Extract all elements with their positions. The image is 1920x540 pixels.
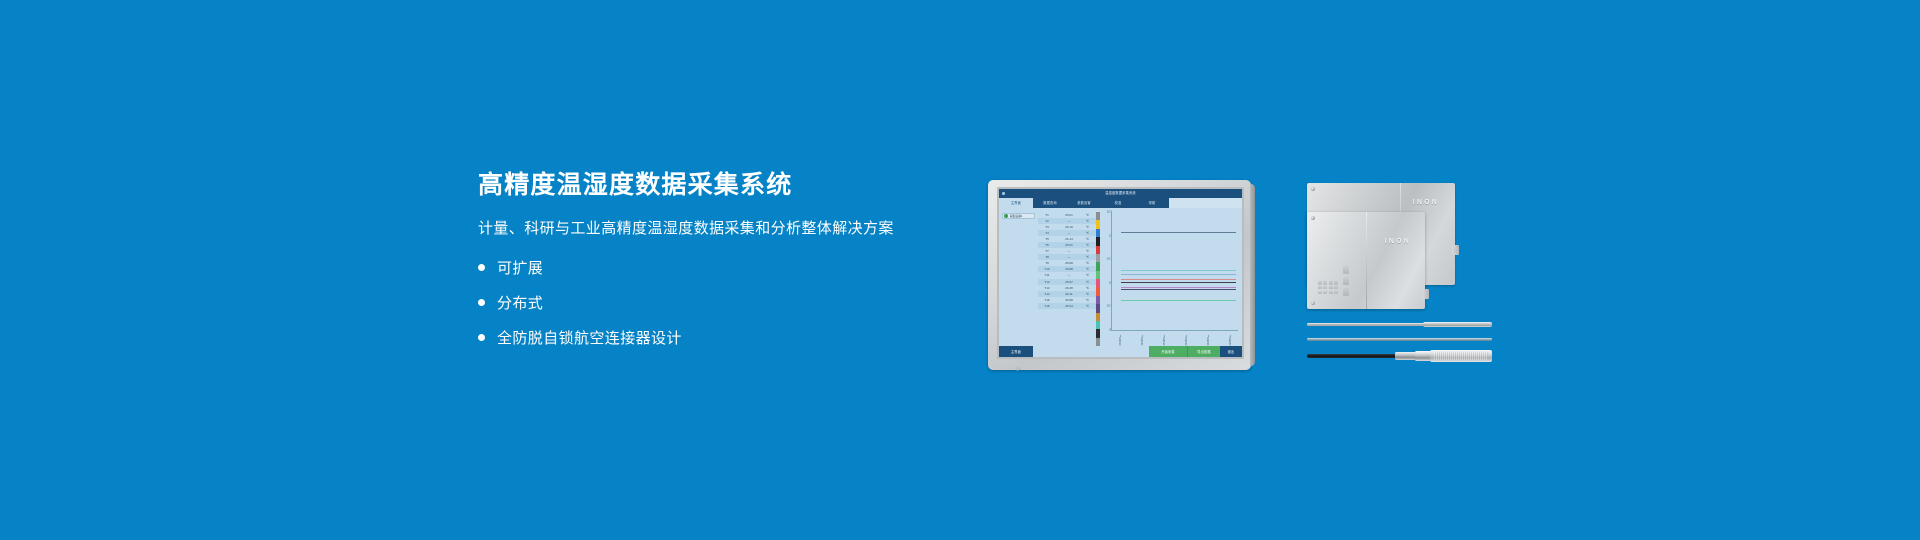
list-item: 分布式 bbox=[478, 292, 998, 313]
aviation-connector-probe bbox=[1307, 350, 1492, 362]
channel-value: --- bbox=[1056, 273, 1082, 277]
chart-series-line bbox=[1121, 287, 1236, 288]
app-footer: 主界面 开始采集 导出数据 退出 bbox=[999, 346, 1242, 357]
channel-unit: ℃ bbox=[1082, 231, 1093, 235]
probe-lock-nut bbox=[1415, 351, 1431, 361]
connector-row-icon bbox=[1343, 266, 1349, 296]
channel-value: 26.28 bbox=[1056, 286, 1082, 290]
tab-main[interactable]: 主界面 bbox=[999, 198, 1033, 208]
bullet-dot-icon bbox=[478, 264, 485, 271]
channel-id: T5 bbox=[1038, 237, 1056, 241]
x-axis-tick: 14:21:40 bbox=[1184, 337, 1187, 345]
bullet-dot-icon bbox=[478, 299, 485, 306]
tabbar-filler bbox=[1169, 198, 1242, 208]
chart-series-line bbox=[1121, 232, 1236, 233]
app-title: 温湿度数据采集系统 bbox=[999, 189, 1242, 198]
module-seam bbox=[1366, 212, 1367, 309]
channel-id: T6 bbox=[1038, 243, 1056, 247]
chart-x-axis: 14:20:1014:20:4014:21:1014:21:4014:22:10… bbox=[1113, 330, 1238, 345]
tab-query[interactable]: 数据查询 bbox=[1033, 198, 1067, 208]
channel-id: T14 bbox=[1038, 292, 1056, 296]
app-tabbar: 主界面 数据查询 参数设置 校准 帮助 bbox=[999, 198, 1242, 208]
device-tree-panel: 采集设备1 bbox=[999, 208, 1038, 346]
feature-label: 分布式 bbox=[497, 292, 543, 313]
screw-icon bbox=[1311, 301, 1315, 305]
promo-banner: 高精度温湿度数据采集系统 计量、科研与工业高精度温湿度数据采集和分析整体解决方案… bbox=[0, 0, 1920, 540]
page-subtitle: 计量、科研与工业高精度温湿度数据采集和分析整体解决方案 bbox=[478, 217, 998, 238]
channel-value: 26.13 bbox=[1056, 237, 1082, 241]
channel-unit: ℃ bbox=[1082, 255, 1093, 259]
module-port bbox=[1452, 245, 1459, 255]
feature-label: 可扩展 bbox=[497, 257, 543, 278]
channel-unit: ℃ bbox=[1082, 286, 1093, 290]
channel-unit: ℃ bbox=[1082, 261, 1093, 265]
device-online-icon bbox=[1004, 214, 1008, 218]
channel-value: 26.19 bbox=[1056, 225, 1082, 229]
copy-block: 高精度温湿度数据采集系统 计量、科研与工业高精度温湿度数据采集和分析整体解决方案… bbox=[478, 172, 998, 348]
channel-id: T16 bbox=[1038, 304, 1056, 308]
channel-id: T13 bbox=[1038, 286, 1056, 290]
channel-id: T4 bbox=[1038, 231, 1056, 235]
chart-series-line bbox=[1121, 274, 1236, 275]
page-title: 高精度温湿度数据采集系统 bbox=[478, 172, 998, 200]
channel-id: T1 bbox=[1038, 213, 1056, 217]
channel-unit: ℃ bbox=[1082, 219, 1093, 223]
tab-settings[interactable]: 参数设置 bbox=[1067, 198, 1101, 208]
channel-id: T15 bbox=[1038, 298, 1056, 302]
stainless-temperature-probe bbox=[1307, 322, 1492, 327]
chart-series-line bbox=[1121, 289, 1236, 290]
channel-id: T3 bbox=[1038, 225, 1056, 229]
trend-chart: 25.52526.52625.525 14:20:1014:20:4014:21… bbox=[1100, 208, 1242, 346]
module-port bbox=[1422, 289, 1429, 299]
channel-unit: ℃ bbox=[1082, 249, 1093, 253]
chart-series-line bbox=[1121, 279, 1236, 280]
probe-cable bbox=[1307, 354, 1399, 358]
probe-connector-body bbox=[1430, 350, 1492, 362]
tab-help[interactable]: 帮助 bbox=[1135, 198, 1169, 208]
channel-id: T11 bbox=[1038, 273, 1056, 277]
channel-unit: ℃ bbox=[1082, 298, 1093, 302]
list-item: 全防脱自锁航空连接器设计 bbox=[478, 327, 998, 348]
start-acquisition-button[interactable]: 开始采集 bbox=[1149, 346, 1187, 357]
channel-value: 25.94 bbox=[1056, 304, 1082, 308]
monitor-stand bbox=[1014, 364, 1023, 371]
footer-spacer bbox=[1033, 346, 1149, 357]
brand-logo: INON bbox=[1413, 199, 1439, 206]
channel-unit: ℃ bbox=[1082, 273, 1093, 277]
channel-unit: ℃ bbox=[1082, 267, 1093, 271]
channel-value: 26.98 bbox=[1056, 261, 1082, 265]
channel-unit: ℃ bbox=[1082, 237, 1093, 241]
chart-series-line bbox=[1121, 300, 1236, 301]
app-body: 采集设备1 T125.01℃T2---℃T326.19℃T4---℃T526.1… bbox=[999, 208, 1242, 346]
list-item: 可扩展 bbox=[478, 257, 998, 278]
tab-calibration[interactable]: 校准 bbox=[1101, 198, 1135, 208]
x-axis-tick: 14:22:10 bbox=[1206, 337, 1209, 345]
channel-unit: ℃ bbox=[1082, 304, 1093, 308]
slim-sensor-rod bbox=[1307, 338, 1492, 341]
x-axis-tick: 14:21:10 bbox=[1162, 337, 1165, 345]
exit-button[interactable]: 退出 bbox=[1220, 346, 1242, 357]
device-tree-label: 采集设备1 bbox=[1010, 214, 1023, 218]
channel-value: --- bbox=[1056, 231, 1082, 235]
probe-tip bbox=[1423, 322, 1492, 327]
data-logger-module-front: INON bbox=[1307, 212, 1425, 309]
channel-id: T9 bbox=[1038, 261, 1056, 265]
channel-id: T12 bbox=[1038, 280, 1056, 284]
feature-list: 可扩展 分布式 全防脱自锁航空连接器设计 bbox=[478, 257, 998, 348]
channel-id: T10 bbox=[1038, 267, 1056, 271]
channel-unit: ℃ bbox=[1082, 225, 1093, 229]
footer-home-button[interactable]: 主界面 bbox=[999, 346, 1033, 357]
channel-value: 26.98 bbox=[1056, 298, 1082, 302]
channel-value: 25.01 bbox=[1056, 213, 1082, 217]
x-axis-tick: 14:22:40 bbox=[1228, 337, 1231, 345]
channel-value: --- bbox=[1056, 255, 1082, 259]
feature-label: 全防脱自锁航空连接器设计 bbox=[497, 327, 682, 348]
chart-series-line bbox=[1121, 270, 1236, 271]
probe-ferrule bbox=[1395, 352, 1417, 360]
device-tree-node[interactable]: 采集设备1 bbox=[1002, 213, 1035, 219]
bullet-dot-icon bbox=[478, 334, 485, 341]
chart-plot-area bbox=[1113, 213, 1238, 330]
product-image-group: 温湿度数据采集系统 主界面 数据查询 参数设置 校准 帮助 bbox=[975, 170, 1495, 380]
channel-id: T2 bbox=[1038, 219, 1056, 223]
table-row[interactable]: T1625.94℃ bbox=[1038, 303, 1096, 309]
channel-value: --- bbox=[1056, 219, 1082, 223]
channel-value: 25.97 bbox=[1056, 280, 1082, 284]
screw-icon bbox=[1311, 187, 1315, 191]
channel-unit: ℃ bbox=[1082, 280, 1093, 284]
channel-unit: ℃ bbox=[1082, 292, 1093, 296]
panel-pc-monitor: 温湿度数据采集系统 主界面 数据查询 参数设置 校准 帮助 bbox=[988, 180, 1251, 370]
chart-series-line bbox=[1121, 282, 1236, 283]
channel-unit: ℃ bbox=[1082, 213, 1093, 217]
channel-value: --- bbox=[1056, 249, 1082, 253]
brand-logo: INON bbox=[1385, 238, 1411, 245]
terminal-block-icon bbox=[1318, 281, 1338, 294]
probe-rod bbox=[1307, 338, 1492, 341]
channel-table: T125.01℃T2---℃T326.19℃T4---℃T526.13℃T625… bbox=[1038, 208, 1096, 346]
monitor-screen: 温湿度数据采集系统 主界面 数据查询 参数设置 校准 帮助 bbox=[999, 189, 1242, 357]
x-axis-tick: 14:20:10 bbox=[1118, 337, 1121, 345]
probe-rod bbox=[1307, 323, 1427, 325]
x-axis-tick: 14:20:40 bbox=[1140, 337, 1143, 345]
channel-value: 25.61 bbox=[1056, 243, 1082, 247]
channel-value: 26.11 bbox=[1056, 292, 1082, 296]
monitor-bezel: 温湿度数据采集系统 主界面 数据查询 参数设置 校准 帮助 bbox=[997, 187, 1244, 359]
app-titlebar: 温湿度数据采集系统 bbox=[999, 189, 1242, 198]
export-data-button[interactable]: 导出数据 bbox=[1187, 346, 1220, 357]
channel-id: T7 bbox=[1038, 249, 1056, 253]
channel-id: T8 bbox=[1038, 255, 1056, 259]
screw-icon bbox=[1311, 216, 1315, 220]
channel-unit: ℃ bbox=[1082, 243, 1093, 247]
channel-value: 26.88 bbox=[1056, 267, 1082, 271]
